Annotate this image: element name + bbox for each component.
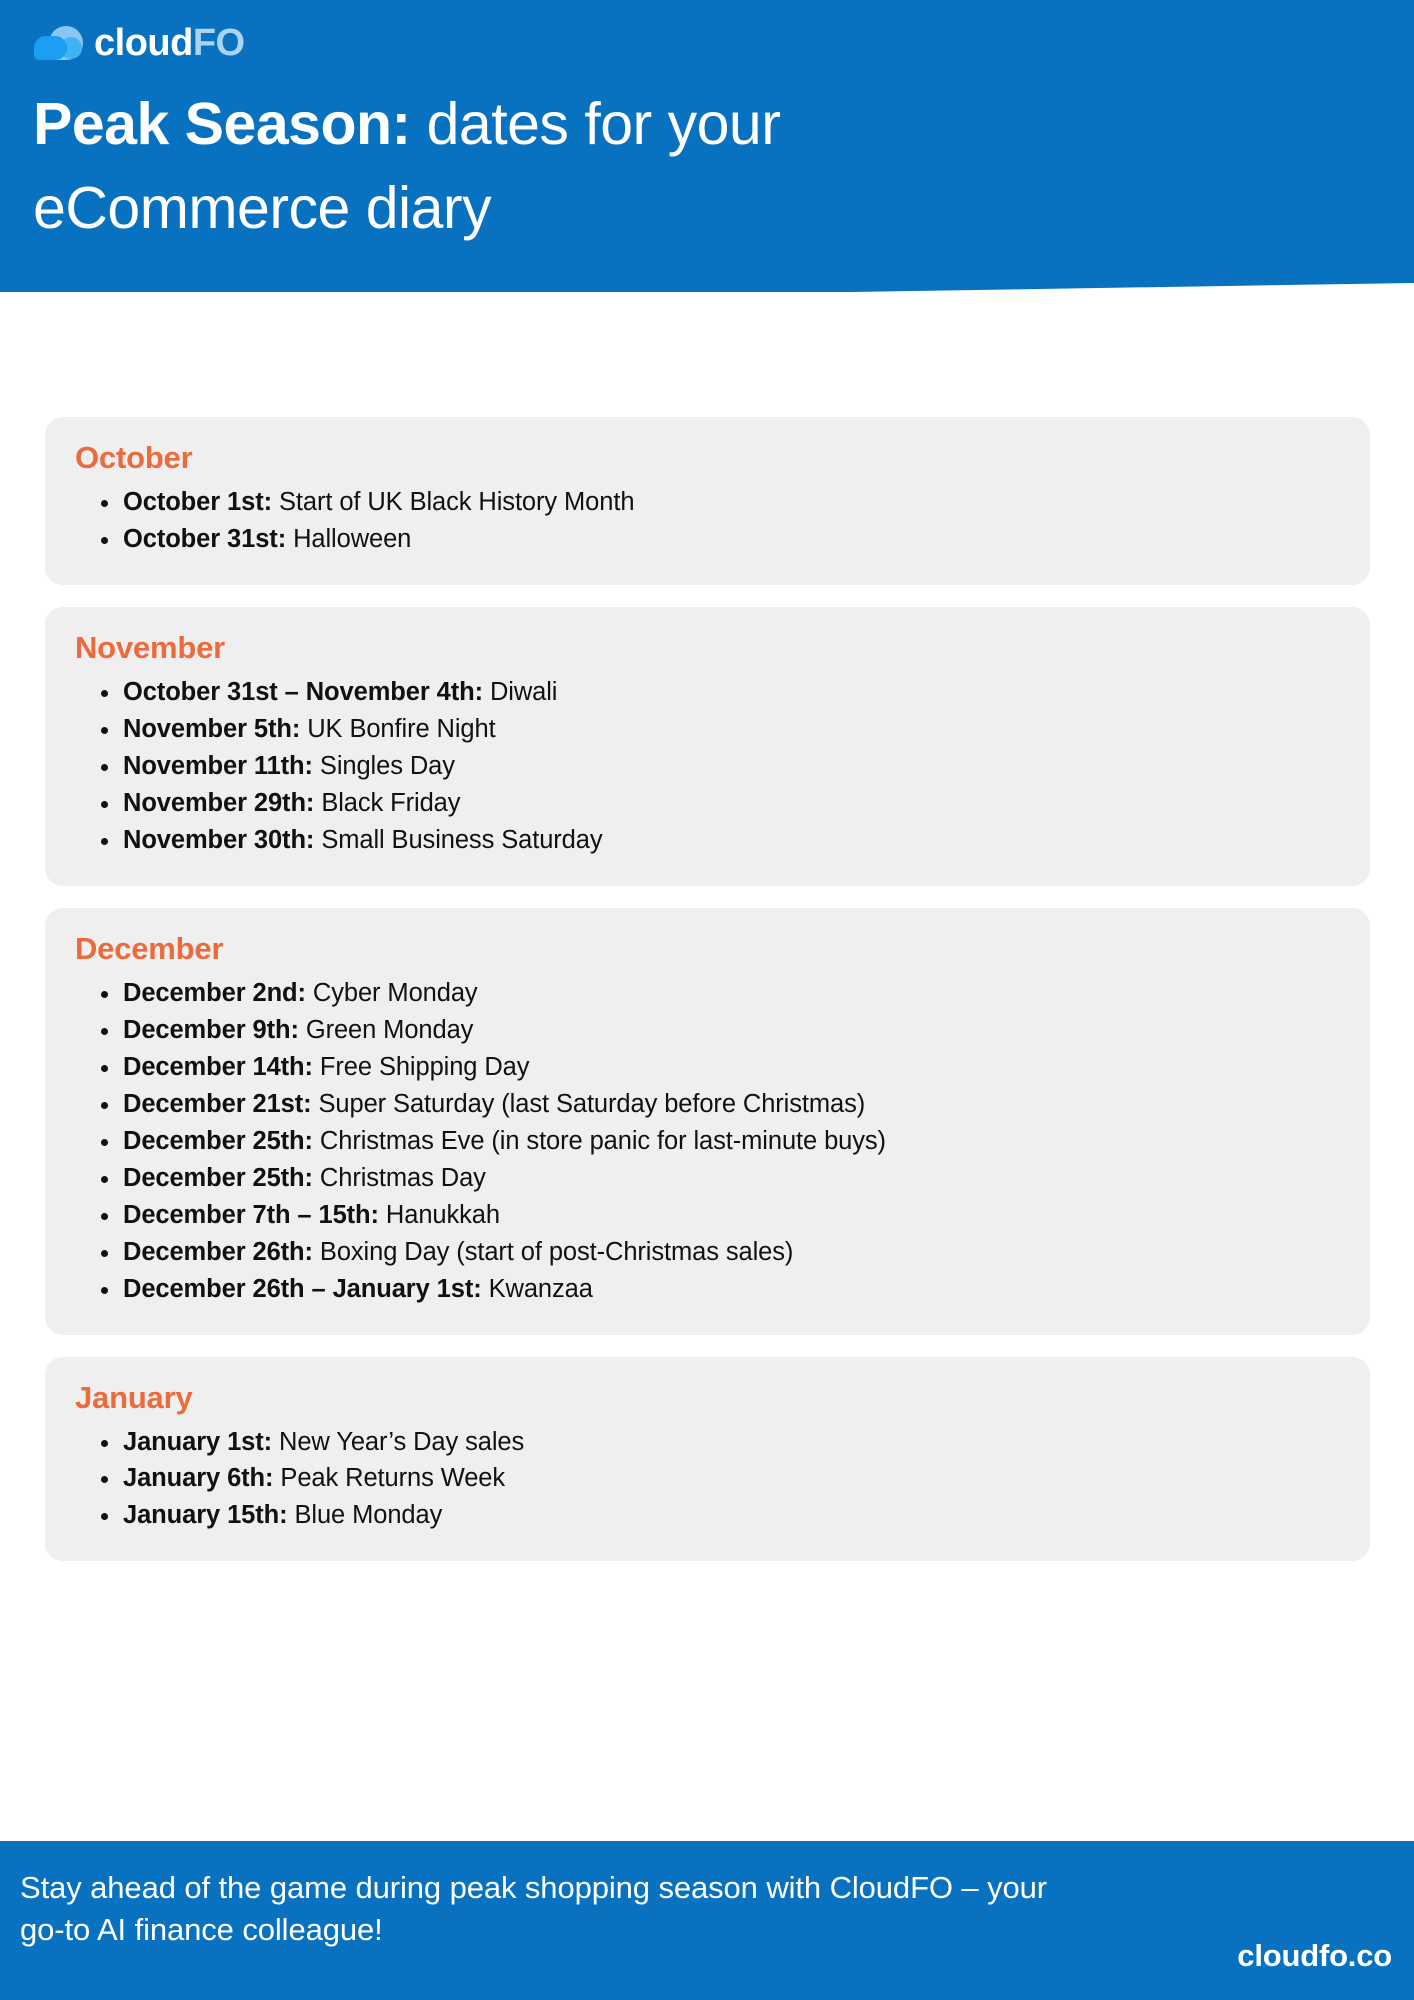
event-date: October 31st: (123, 525, 286, 553)
month-card-november: November October 31st – November 4th: Di… (45, 607, 1370, 886)
event-date: October 31st – November 4th: (123, 678, 483, 706)
page-title: Peak Season: dates for your eCommerce di… (33, 83, 1033, 251)
month-heading-january: January (75, 1380, 1340, 1416)
event-label: Singles Day (313, 752, 455, 780)
event-date: December 26th – January 1st: (123, 1275, 482, 1303)
month-card-january: January January 1st: New Year’s Day sale… (45, 1357, 1370, 1562)
list-item: October 31st – November 4th: Diwali (93, 674, 1340, 711)
month-card-list: October October 1st: Start of UK Black H… (45, 417, 1370, 1583)
event-label: Kwanzaa (482, 1275, 593, 1303)
event-date: December 14th: (123, 1053, 313, 1081)
event-date: December 9th: (123, 1016, 299, 1044)
footer-tagline: Stay ahead of the game during peak shopp… (20, 1867, 1050, 1951)
list-item: December 26th: Boxing Day (start of post… (93, 1234, 1340, 1271)
list-item: November 5th: UK Bonfire Night (93, 711, 1340, 748)
list-item: November 11th: Singles Day (93, 748, 1340, 785)
infographic-page: cloudFO Peak Season: dates for your eCom… (0, 0, 1414, 2000)
event-label: Christmas Eve (in store panic for last-m… (313, 1127, 886, 1155)
event-label: Green Monday (299, 1016, 473, 1044)
cloud-icon (33, 23, 85, 63)
event-label: Christmas Day (313, 1164, 486, 1192)
month-card-december: December December 2nd: Cyber Monday Dece… (45, 908, 1370, 1335)
event-label: Peak Returns Week (273, 1464, 505, 1492)
month-heading-november: November (75, 630, 1340, 666)
list-item: January 6th: Peak Returns Week (93, 1460, 1340, 1497)
list-item: December 9th: Green Monday (93, 1012, 1340, 1049)
event-label: Hanukkah (379, 1201, 500, 1229)
page-title-strong: Peak Season: (33, 91, 411, 157)
event-date: January 6th: (123, 1464, 273, 1492)
event-label: Halloween (286, 525, 411, 553)
event-date: December 25th: (123, 1164, 313, 1192)
list-item: December 25th: Christmas Day (93, 1160, 1340, 1197)
list-item: October 31st: Halloween (93, 521, 1340, 558)
list-item: December 2nd: Cyber Monday (93, 975, 1340, 1012)
event-date: November 11th: (123, 752, 313, 780)
footer-banner: Stay ahead of the game during peak shopp… (0, 1841, 1414, 2000)
list-item: December 26th – January 1st: Kwanzaa (93, 1271, 1340, 1308)
footer-website-url[interactable]: cloudfo.co (1237, 1938, 1392, 1974)
brand-name-part2: FO (193, 22, 245, 64)
event-label: Free Shipping Day (313, 1053, 529, 1081)
event-label: Start of UK Black History Month (272, 488, 634, 516)
event-date: November 5th: (123, 715, 300, 743)
event-label: Diwali (483, 678, 557, 706)
event-date: December 25th: (123, 1127, 313, 1155)
event-label: Small Business Saturday (314, 826, 602, 854)
event-date: December 26th: (123, 1238, 313, 1266)
event-label: Boxing Day (start of post-Christmas sale… (313, 1238, 793, 1266)
event-list-january: January 1st: New Year’s Day sales Januar… (93, 1424, 1340, 1535)
event-date: October 1st: (123, 488, 272, 516)
header-banner: cloudFO Peak Season: dates for your eCom… (0, 0, 1414, 295)
event-label: Cyber Monday (306, 979, 478, 1007)
brand-logo[interactable]: cloudFO (33, 20, 245, 66)
event-list-october: October 1st: Start of UK Black History M… (93, 484, 1340, 558)
list-item: December 7th – 15th: Hanukkah (93, 1197, 1340, 1234)
brand-name-part1: cloud (94, 22, 193, 64)
event-list-december: December 2nd: Cyber Monday December 9th:… (93, 975, 1340, 1308)
month-heading-december: December (75, 931, 1340, 967)
event-date: December 2nd: (123, 979, 306, 1007)
list-item: October 1st: Start of UK Black History M… (93, 484, 1340, 521)
event-date: November 29th: (123, 789, 314, 817)
list-item: November 30th: Small Business Saturday (93, 822, 1340, 859)
event-date: December 21st: (123, 1090, 312, 1118)
list-item: November 29th: Black Friday (93, 785, 1340, 822)
list-item: December 21st: Super Saturday (last Satu… (93, 1086, 1340, 1123)
list-item: January 15th: Blue Monday (93, 1497, 1340, 1534)
list-item: December 25th: Christmas Eve (in store p… (93, 1123, 1340, 1160)
event-date: January 1st: (123, 1428, 272, 1456)
event-label: New Year’s Day sales (272, 1428, 524, 1456)
event-label: Blue Monday (288, 1501, 443, 1529)
event-list-november: October 31st – November 4th: Diwali Nove… (93, 674, 1340, 859)
list-item: December 14th: Free Shipping Day (93, 1049, 1340, 1086)
event-date: January 15th: (123, 1501, 288, 1529)
event-date: December 7th – 15th: (123, 1201, 379, 1229)
event-label: UK Bonfire Night (300, 715, 495, 743)
month-heading-october: October (75, 440, 1340, 476)
event-label: Black Friday (314, 789, 460, 817)
event-date: November 30th: (123, 826, 314, 854)
event-label: Super Saturday (last Saturday before Chr… (312, 1090, 866, 1118)
brand-wordmark: cloudFO (94, 24, 245, 62)
list-item: January 1st: New Year’s Day sales (93, 1424, 1340, 1461)
month-card-october: October October 1st: Start of UK Black H… (45, 417, 1370, 585)
